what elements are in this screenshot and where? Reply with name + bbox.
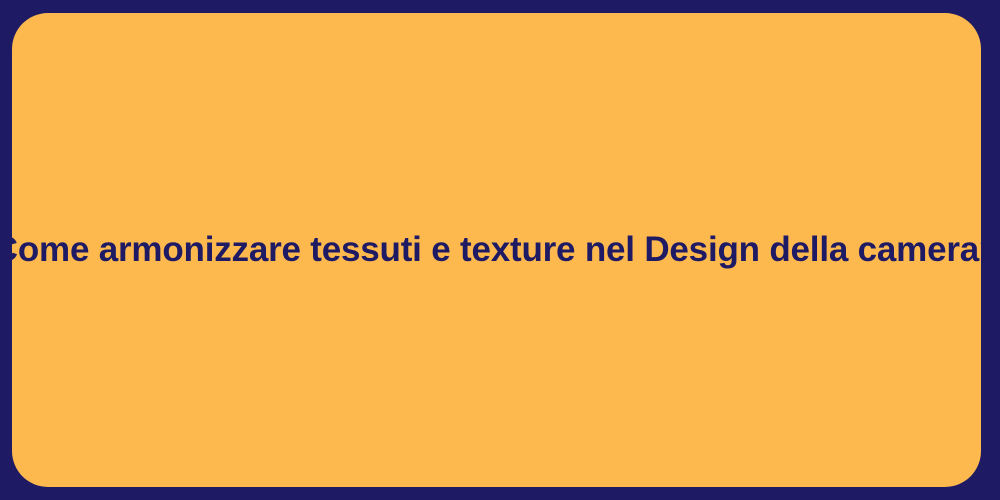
content-card: Come armonizzare tessuti e texture nel D… [12, 13, 981, 487]
page-canvas: Come armonizzare tessuti e texture nel D… [0, 0, 1000, 500]
page-title: Come armonizzare tessuti e texture nel D… [0, 228, 1000, 272]
